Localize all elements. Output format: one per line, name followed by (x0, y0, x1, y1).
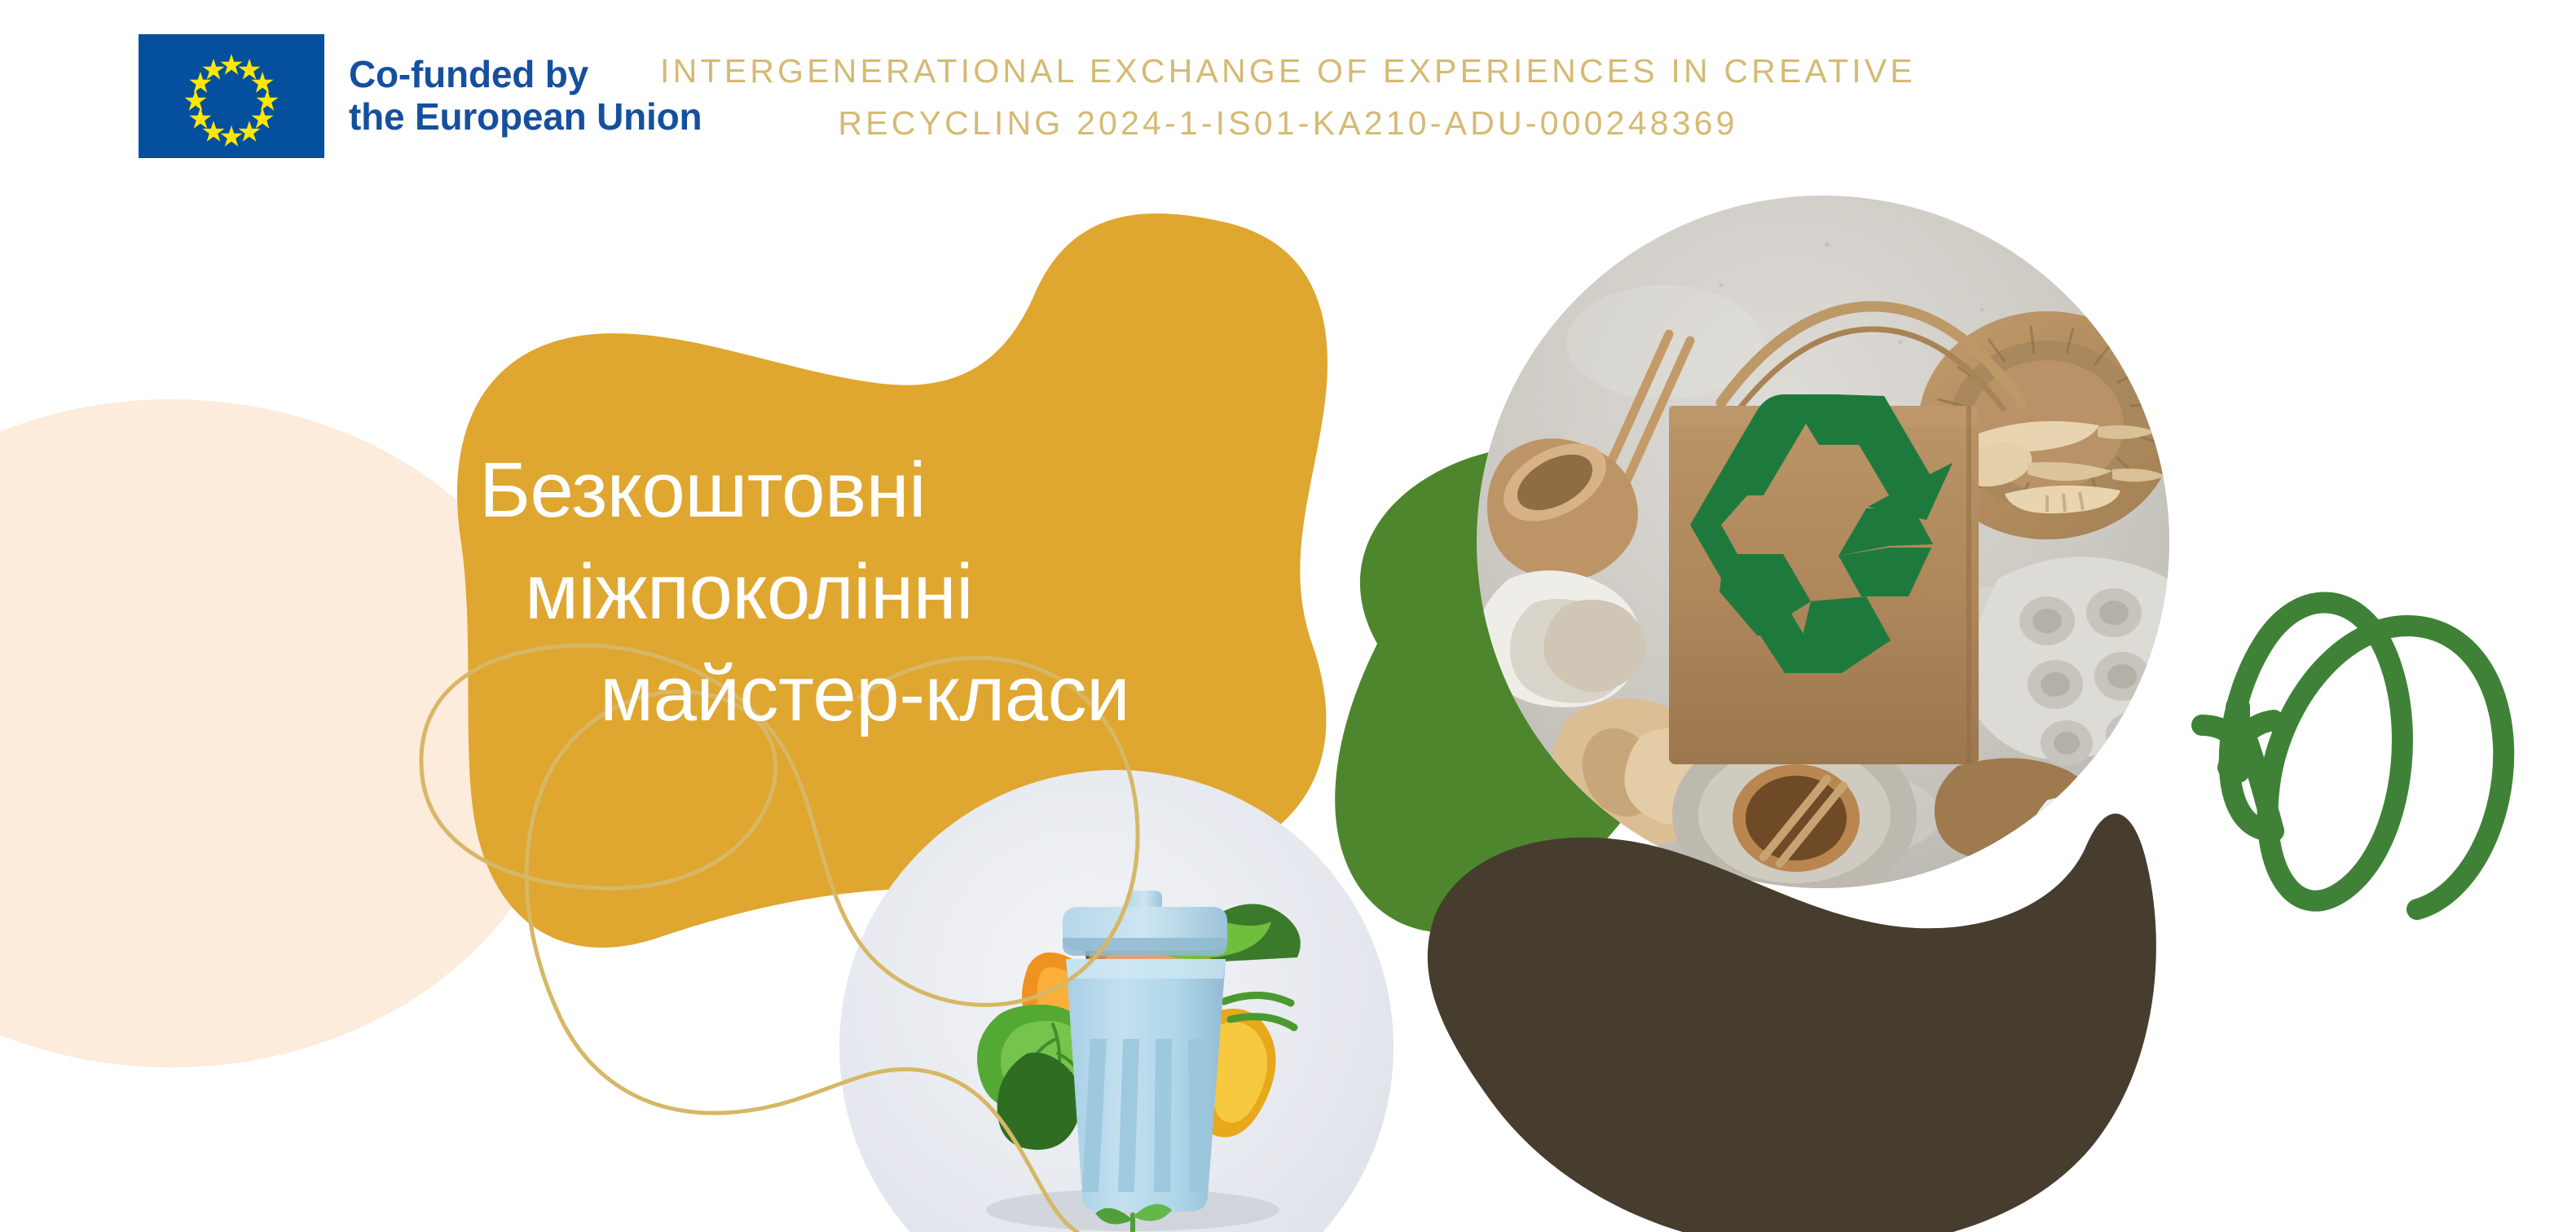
eu-logo-line1: Co-funded by (349, 53, 588, 95)
headline-line2: міжпоколінні (456, 542, 1279, 644)
headline-line1: Безкоштовні (456, 440, 1279, 542)
eu-co-funded-emblem: Co-funded by the European Union (139, 34, 702, 158)
banner-root: Co-funded by the European Union INTERGEN… (0, 0, 2576, 1232)
compost-bin-photo (839, 770, 1394, 1232)
cardboard-scraps (1935, 758, 2115, 867)
green-spiral-arrow (2202, 602, 2503, 909)
eu-flag-icon (139, 34, 324, 158)
page-title: Безкоштовні міжпоколінні майстер-класи (456, 440, 1279, 745)
eu-logo-text: Co-funded by the European Union (349, 54, 702, 139)
peach-circle (0, 399, 570, 1067)
headline-line3: майстер-класи (456, 644, 1279, 746)
compost-bin-body (1066, 959, 1226, 1212)
eu-logo-line2: the European Union (349, 96, 702, 139)
recycling-photo (1477, 196, 2169, 888)
egg-carton (1968, 557, 2169, 766)
